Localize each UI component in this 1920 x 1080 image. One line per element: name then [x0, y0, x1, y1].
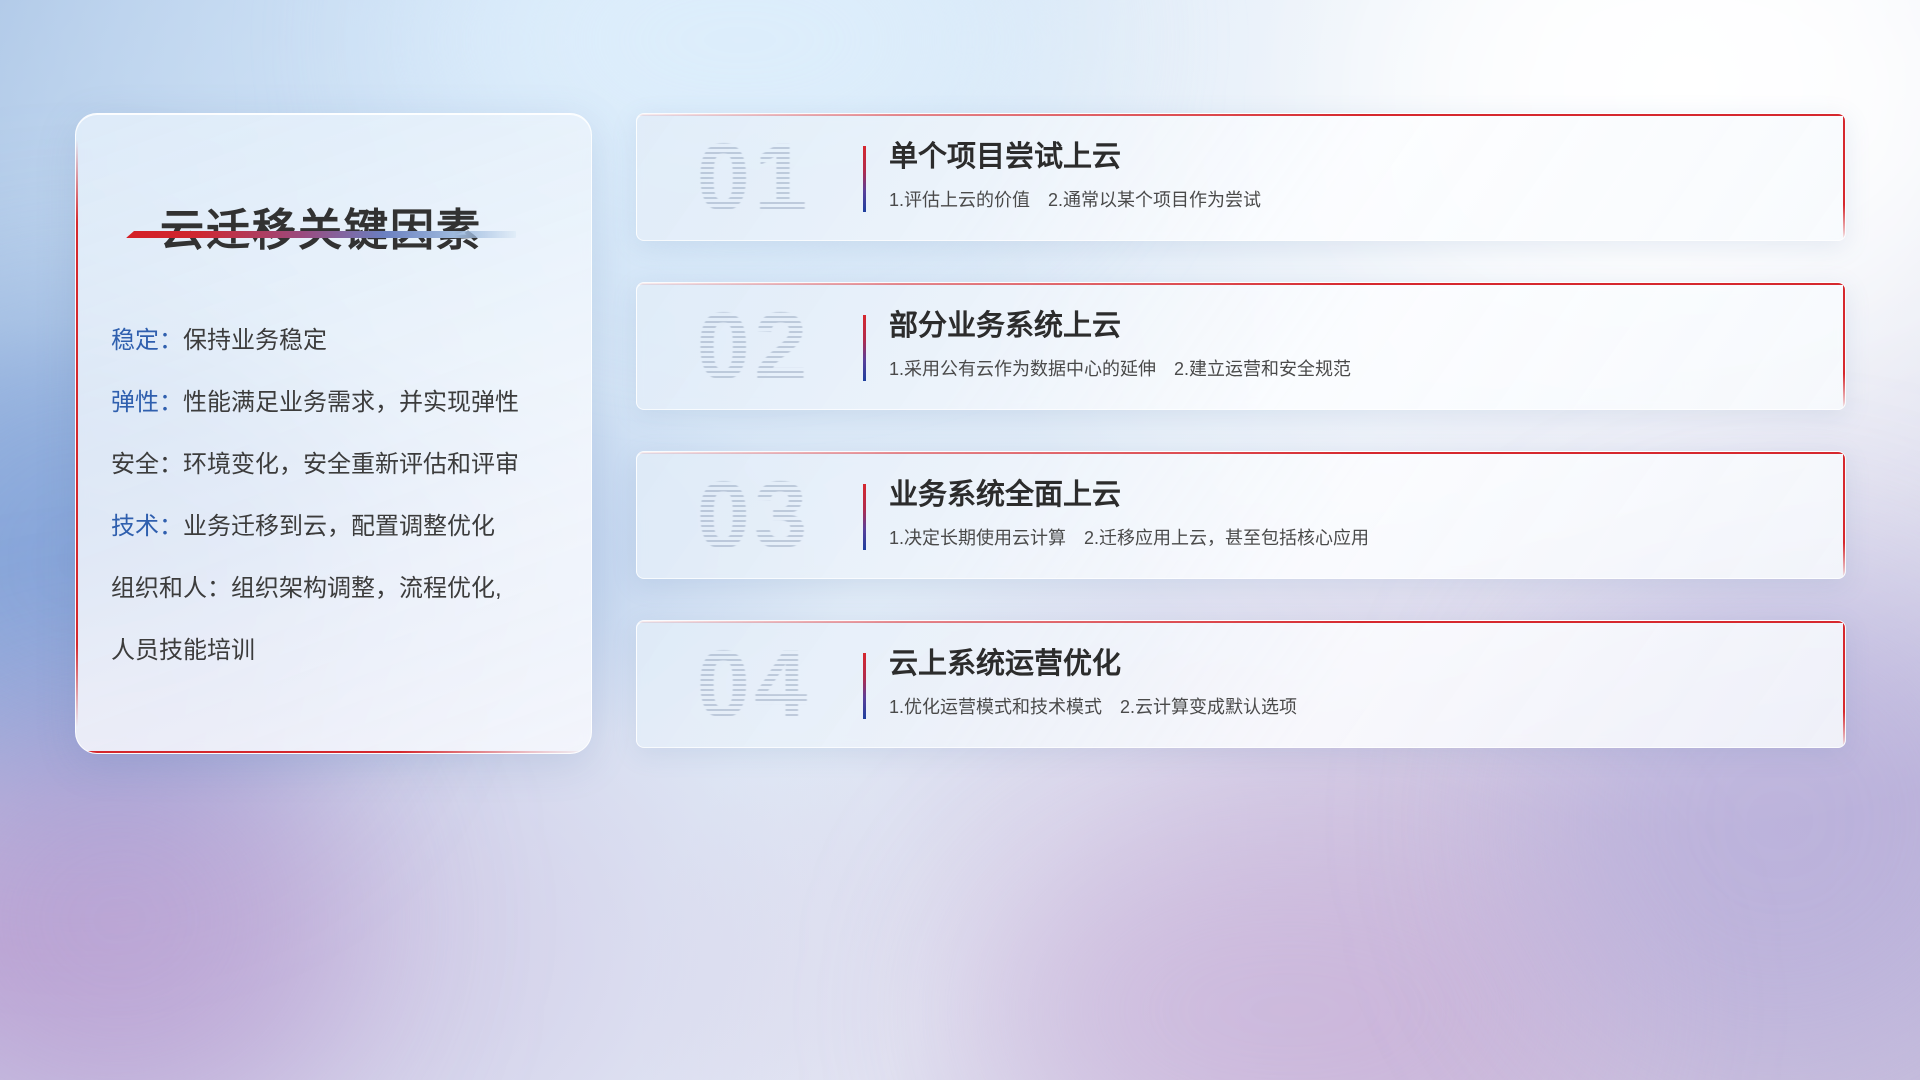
key-factor-text: 性能满足业务需求，并实现弹性	[183, 389, 519, 416]
stage-number-watermark: 02	[659, 291, 849, 403]
stage-point: 2.迁移应用上云，甚至包括核心应用	[1084, 528, 1369, 548]
key-factor-item: 安全：环境变化，安全重新评估和评审	[111, 434, 573, 496]
stage-card-body: 云上系统运营优化1.优化运营模式和技术模式2.云计算变成默认选项	[889, 644, 1821, 720]
stage-point: 1.采用公有云作为数据中心的延伸	[889, 359, 1156, 379]
stage-divider-accent	[863, 315, 866, 381]
key-factor-label: 稳定：	[111, 327, 183, 354]
cloud-migration-stages: 01单个项目尝试上云1.评估上云的价值2.通常以某个项目作为尝试02部分业务系统…	[636, 113, 1846, 789]
stage-card[interactable]: 02部分业务系统上云1.采用公有云作为数据中心的延伸2.建立运营和安全规范	[636, 282, 1846, 410]
key-factor-item: 人员技能培训	[111, 620, 573, 682]
stage-title: 单个项目尝试上云	[889, 137, 1821, 177]
key-factor-label: 技术：	[111, 513, 183, 540]
stage-point: 1.评估上云的价值	[889, 190, 1030, 210]
key-factor-text: 保持业务稳定	[183, 327, 327, 354]
stage-card-body: 业务系统全面上云1.决定长期使用云计算2.迁移应用上云，甚至包括核心应用	[889, 475, 1821, 551]
key-factor-item: 技术：业务迁移到云，配置调整优化	[111, 496, 573, 558]
stage-divider-accent	[863, 653, 866, 719]
stage-points: 1.决定长期使用云计算2.迁移应用上云，甚至包括核心应用	[889, 525, 1821, 551]
stage-points: 1.采用公有云作为数据中心的延伸2.建立运营和安全规范	[889, 356, 1821, 382]
background-blob-left-lower	[0, 700, 360, 1080]
stage-card-body: 部分业务系统上云1.采用公有云作为数据中心的延伸2.建立运营和安全规范	[889, 306, 1821, 382]
stage-divider-accent	[863, 484, 866, 550]
background-blob-bottom-center	[980, 820, 1600, 1080]
stage-card[interactable]: 03业务系统全面上云1.决定长期使用云计算2.迁移应用上云，甚至包括核心应用	[636, 451, 1846, 579]
key-factor-text: 业务迁移到云，配置调整优化	[183, 513, 495, 540]
stage-point: 1.决定长期使用云计算	[889, 528, 1066, 548]
page-title: 云迁移关键因素	[160, 194, 482, 258]
stage-divider-accent	[863, 146, 866, 212]
stage-number-watermark: 04	[659, 629, 849, 741]
key-factors-panel: 云迁移关键因素 稳定：保持业务稳定弹性：性能满足业务需求，并实现弹性安全：环境变…	[75, 113, 592, 754]
stage-card[interactable]: 01单个项目尝试上云1.评估上云的价值2.通常以某个项目作为尝试	[636, 113, 1846, 241]
key-factor-label: 弹性：	[111, 389, 183, 416]
stage-title: 云上系统运营优化	[889, 644, 1821, 684]
key-factors-list: 稳定：保持业务稳定弹性：性能满足业务需求，并实现弹性安全：环境变化，安全重新评估…	[111, 310, 573, 682]
slide-canvas: 云迁移关键因素 稳定：保持业务稳定弹性：性能满足业务需求，并实现弹性安全：环境变…	[0, 0, 1920, 1080]
key-factor-item: 组织和人：组织架构调整，流程优化,	[111, 558, 573, 620]
stage-point: 2.云计算变成默认选项	[1120, 697, 1297, 717]
stage-points: 1.评估上云的价值2.通常以某个项目作为尝试	[889, 187, 1821, 213]
key-factor-label: 组织和人：	[111, 575, 231, 602]
key-factor-text: 人员技能培训	[111, 637, 255, 664]
stage-number-watermark: 01	[659, 122, 849, 234]
title-underline-accent	[126, 231, 516, 238]
key-factor-item: 稳定：保持业务稳定	[111, 310, 573, 372]
stage-number-watermark: 03	[659, 460, 849, 572]
key-factor-item: 弹性：性能满足业务需求，并实现弹性	[111, 372, 573, 434]
stage-point: 2.通常以某个项目作为尝试	[1048, 190, 1261, 210]
key-factor-text: 组织架构调整，流程优化,	[231, 575, 502, 602]
key-factor-text: 环境变化，安全重新评估和评审	[183, 451, 519, 478]
stage-title: 业务系统全面上云	[889, 475, 1821, 515]
stage-point: 2.建立运营和安全规范	[1174, 359, 1351, 379]
stage-card[interactable]: 04云上系统运营优化1.优化运营模式和技术模式2.云计算变成默认选项	[636, 620, 1846, 748]
key-factor-label: 安全：	[111, 451, 183, 478]
stage-points: 1.优化运营模式和技术模式2.云计算变成默认选项	[889, 694, 1821, 720]
stage-card-body: 单个项目尝试上云1.评估上云的价值2.通常以某个项目作为尝试	[889, 137, 1821, 213]
stage-title: 部分业务系统上云	[889, 306, 1821, 346]
stage-point: 1.优化运营模式和技术模式	[889, 697, 1102, 717]
